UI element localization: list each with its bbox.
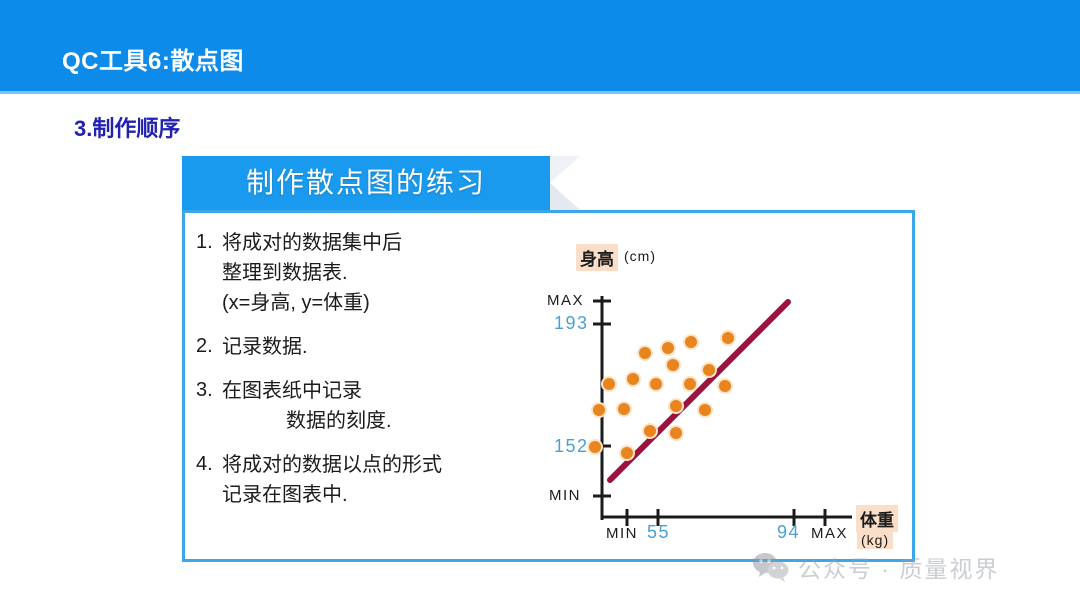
y-tick-152: 152	[554, 436, 589, 457]
data-point	[667, 359, 679, 371]
page-title: QC工具6:散点图	[62, 41, 244, 76]
panel-ribbon-fold	[550, 156, 580, 210]
trend-line-segment	[610, 302, 788, 480]
data-point	[639, 347, 651, 359]
wechat-icon	[752, 552, 790, 582]
step-line: 将成对的数据以点的形式	[222, 450, 526, 480]
list-item: 4. 将成对的数据以点的形式 记录在图表中.	[196, 450, 526, 510]
step-body: 将成对的数据集中后 整理到数据表. (x=身高, y=体重)	[222, 228, 526, 318]
list-item: 3. 在图表纸中记录 数据的刻度.	[196, 376, 526, 436]
x-tick-55: 55	[647, 522, 670, 543]
y-tick-193: 193	[554, 313, 589, 334]
step-line: 在图表纸中记录	[222, 376, 526, 406]
data-point	[722, 332, 734, 344]
step-number: 4.	[196, 450, 222, 510]
step-body: 在图表纸中记录 数据的刻度.	[222, 376, 526, 436]
step-body: 记录数据.	[222, 332, 526, 362]
panel-ribbon-label: 制作散点图的练习	[182, 156, 550, 210]
data-point	[650, 378, 662, 390]
x-tick-94: 94	[777, 522, 800, 543]
list-item: 1. 将成对的数据集中后 整理到数据表. (x=身高, y=体重)	[196, 228, 526, 318]
x-tick-max: MAX	[811, 525, 848, 542]
step-line: 记录数据.	[222, 332, 526, 362]
data-point	[685, 336, 697, 348]
data-point	[684, 378, 696, 390]
y-tick-min: MIN	[549, 487, 581, 504]
watermark: 公众号 · 质量视界	[752, 550, 999, 584]
section-heading: 3.制作顺序	[74, 111, 180, 143]
x-tick-min: MIN	[606, 525, 638, 542]
step-line: 记录在图表中.	[222, 480, 526, 510]
watermark-text: 公众号 · 质量视界	[798, 550, 999, 584]
list-item: 2. 记录数据.	[196, 332, 526, 362]
panel-ribbon: 制作散点图的练习	[182, 156, 550, 210]
trend-line	[610, 302, 788, 480]
data-point	[593, 404, 605, 416]
scatter-chart: 身高 (cm) MAX 193 152 MIN MIN 55 94 MAX 体重…	[540, 228, 920, 558]
y-axis-label: 身高	[576, 244, 618, 271]
y-axis-unit: (cm)	[624, 248, 656, 264]
step-number: 2.	[196, 332, 222, 362]
data-point	[644, 425, 656, 437]
step-line: 数据的刻度.	[222, 406, 526, 436]
data-point	[627, 373, 639, 385]
y-tick-max: MAX	[547, 292, 584, 309]
step-number: 3.	[196, 376, 222, 436]
data-point	[670, 427, 682, 439]
data-point	[719, 380, 731, 392]
data-point	[618, 403, 630, 415]
data-point	[662, 342, 674, 354]
data-point	[621, 447, 633, 459]
data-point	[703, 364, 715, 376]
step-number: 1.	[196, 228, 222, 318]
data-point	[670, 400, 682, 412]
data-point	[603, 378, 615, 390]
x-axis-label: 体重	[856, 505, 898, 532]
data-points	[587, 330, 736, 461]
x-axis-unit: (kg)	[857, 531, 893, 549]
data-point	[699, 404, 711, 416]
data-point	[589, 441, 601, 453]
step-line: 整理到数据表.	[222, 258, 526, 288]
step-body: 将成对的数据以点的形式 记录在图表中.	[222, 450, 526, 510]
step-line: 将成对的数据集中后	[222, 228, 526, 258]
steps-list: 1. 将成对的数据集中后 整理到数据表. (x=身高, y=体重) 2. 记录数…	[196, 228, 526, 524]
header-bar-underline	[0, 91, 1080, 94]
step-line: (x=身高, y=体重)	[222, 288, 526, 318]
